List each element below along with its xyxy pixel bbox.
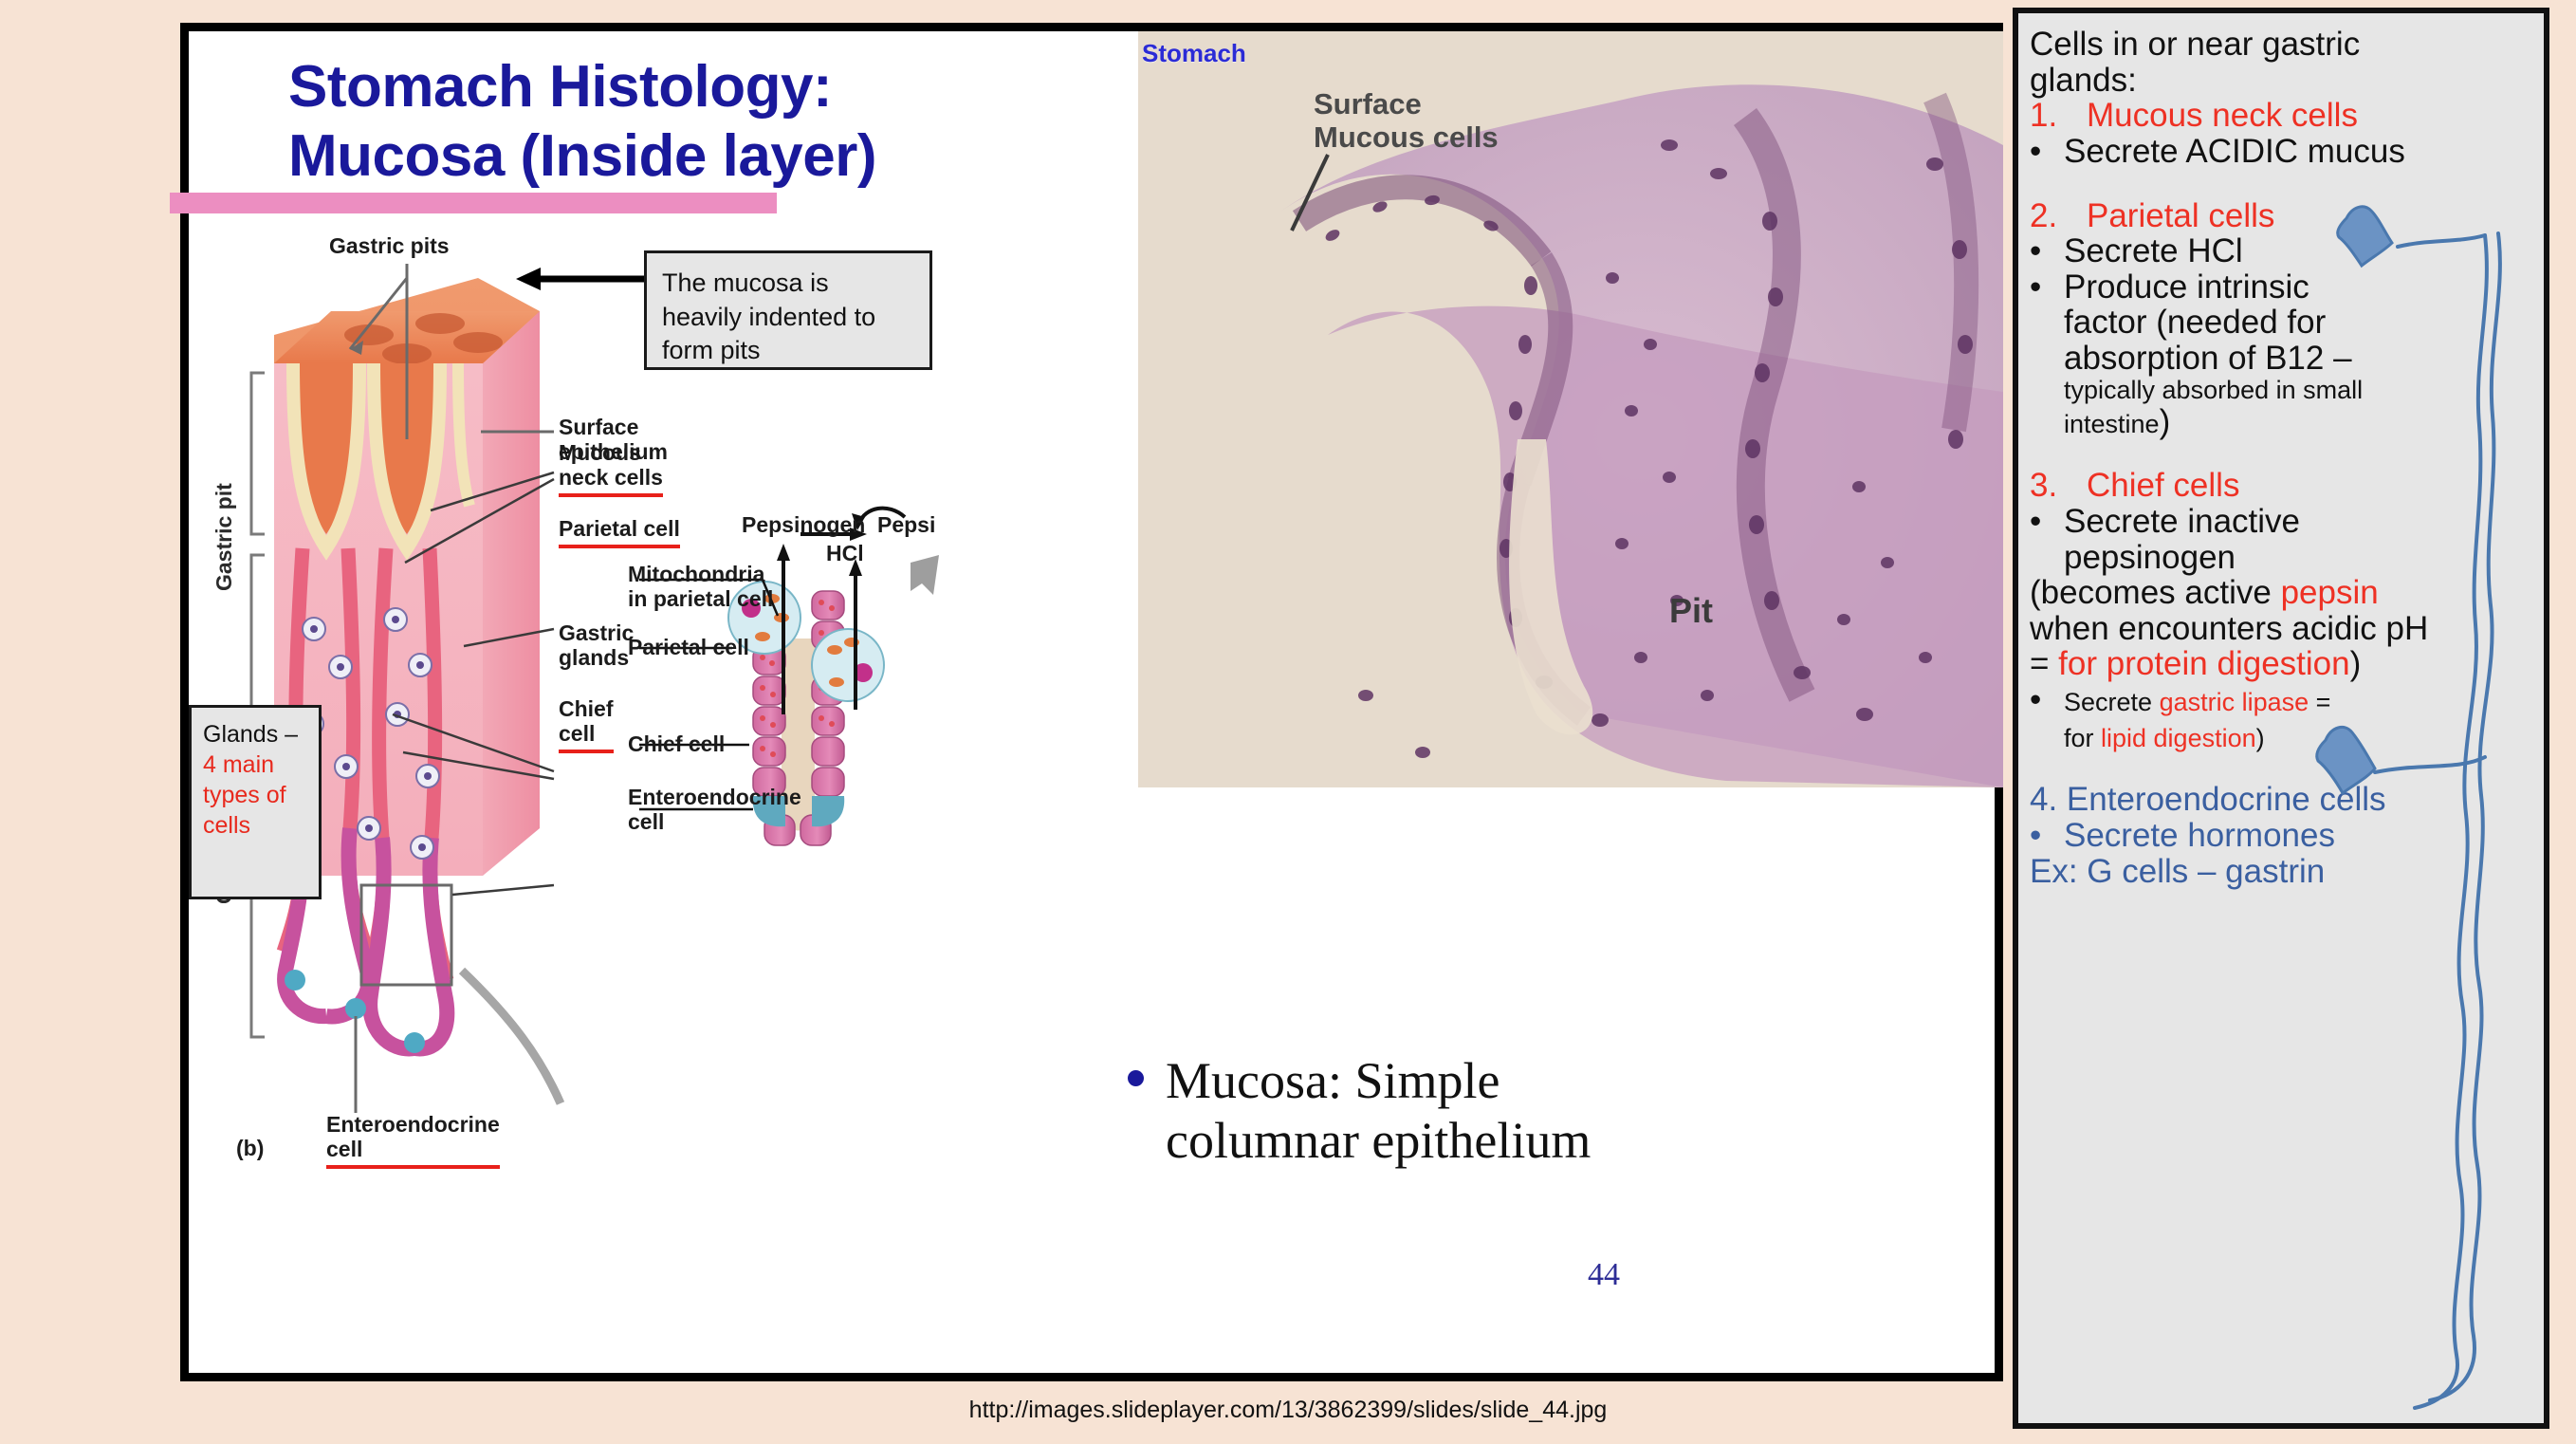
notes-item-1-bullet-1: •Secrete ACIDIC mucus [2030,134,2534,170]
label-gastric-pits: Gastric pits [329,234,450,259]
callout-glands-types: Glands – 4 main types of cells [189,705,322,899]
notes-panel: Cells in or near gastric glands: 1.Mucou… [2013,8,2549,1429]
notes-item-3-bullet-1-line-2: pepsinogen [2030,540,2534,576]
label-mid-chief-cell: Chief cell [628,732,725,757]
callout-arrow [516,267,649,291]
histology-micrograph: Stomach Surface Mucous cells Pit [1138,31,2003,787]
page-title: Stomach Histology: Mucosa (Inside layer) [288,52,1237,191]
bullet-icon: • [2030,134,2064,170]
mucosa-note-bullet [1128,1070,1144,1086]
title-line-2: Mucosa (Inside layer) [288,121,1237,191]
mucosa-note-line-1: Mucosa: Simple [1166,1051,1735,1111]
bracket-label-gastric-pit: Gastric pit [212,430,237,591]
notes-item-3-bullet-2: •Secrete gastric lipase = [2030,682,2534,718]
label-enteroendocrine-cell: Enteroendocrine cell [326,1113,500,1169]
notes-item-2-label: Parietal cells [2087,197,2274,234]
notes-item-2-bullet-2-line-2: factor (needed for [2030,305,2534,341]
notes-item-3-label: Chief cells [2087,467,2239,504]
label-mitochondria-in-parietal-cell: Mitochondria in parietal cell [628,563,773,612]
label-pepsinogen: Pepsinogen [742,513,865,538]
callout-mucosa-pits: The mucosa is heavily indented to form p… [644,250,932,370]
notes-item-3-note-line-3: = for protein digestion) [2030,646,2534,682]
notes-item-1-number: 1. [2030,98,2087,134]
notes-heading-line-2: glands: [2030,63,2534,99]
notes-spacer [2030,439,2534,468]
slide-frame: Stomach Histology: Mucosa (Inside layer) [180,23,2003,1381]
source-url-caption: http://images.slideplayer.com/13/3862399… [0,1397,2576,1424]
slide-page-number: 44 [1588,1257,1620,1293]
notes-item-3-bullet-1-line-1: •Secrete inactive [2030,504,2534,540]
panel-letter-b: (b) [236,1137,264,1161]
label-hcl: HCl [826,542,864,566]
notes-item-1-label: Mucous neck cells [2087,97,2358,134]
title-line-1: Stomach Histology: [288,52,1237,121]
notes-item-3-number: 3. [2030,468,2087,504]
mucosa-note-line-2: columnar epithelium [1166,1111,1735,1171]
notes-item-2-bullet-2-line-5: intestine) [2030,404,2534,440]
notes-heading-line-1: Cells in or near gastric [2030,27,2534,63]
notes-item-1: 1.Mucous neck cells [2030,98,2534,134]
bullet-icon: • [2030,269,2064,305]
label-mucous-neck-cells: Mucous neck cells [559,441,663,497]
notes-item-2: 2.Parietal cells [2030,198,2534,234]
histology-label-pit: Pit [1669,591,1713,631]
bullet-icon: • [2030,682,2064,718]
accent-divider-bar [170,193,777,213]
notes-item-3-bullet-3: for lipid digestion) [2030,718,2534,754]
histology-label-surface-mucous-cells: Surface Mucous cells [1314,88,1499,154]
gastric-gland-magnified-diagram: Pepsinogen Pepsi HCl Mitochondria in par… [620,496,952,876]
callout-glands-line-1: Glands – [203,719,309,750]
label-mid-enteroendocrine-cell: Enteroendocrine cell [628,786,801,835]
notes-item-3-note-line-2: when encounters acidic pH [2030,611,2534,647]
label-mid-parietal-cell: Parietal cell [628,636,749,660]
notes-item-2-bullet-1: •Secrete HCl [2030,233,2534,269]
notes-spacer [2030,753,2534,782]
notes-item-4-label: 4. Enteroendocrine cells [2030,782,2534,818]
bullet-icon: • [2030,233,2064,269]
callout-glands-line-2: 4 main [203,750,309,780]
callout-glands-line-3: types of [203,780,309,810]
bullet-icon: • [2030,504,2064,540]
notes-item-3-note-line-1: (becomes active pepsin [2030,575,2534,611]
notes-item-2-bullet-2-line-1: •Produce intrinsic [2030,269,2534,305]
label-pepsin: Pepsi [877,513,935,538]
notes-item-2-number: 2. [2030,198,2087,234]
callout-glands-line-4: cells [203,810,309,841]
histology-caption-stomach: Stomach [1142,39,1246,68]
notes-item-2-bullet-2-line-4: typically absorbed in small [2030,377,2534,404]
notes-item-3: 3.Chief cells [2030,468,2534,504]
notes-item-2-bullet-2-line-3: absorption of B12 – [2030,341,2534,377]
histology-image [1138,31,2003,787]
mucosa-note: Mucosa: Simple columnar epithelium [1166,1051,1735,1170]
notes-spacer [2030,170,2534,198]
notes-item-4-example: Ex: G cells – gastrin [2030,854,2534,890]
notes-item-4-bullet-1: •Secrete hormones [2030,818,2534,854]
label-chief-cell: Chief cell [559,697,614,753]
bullet-icon: • [2030,818,2064,854]
